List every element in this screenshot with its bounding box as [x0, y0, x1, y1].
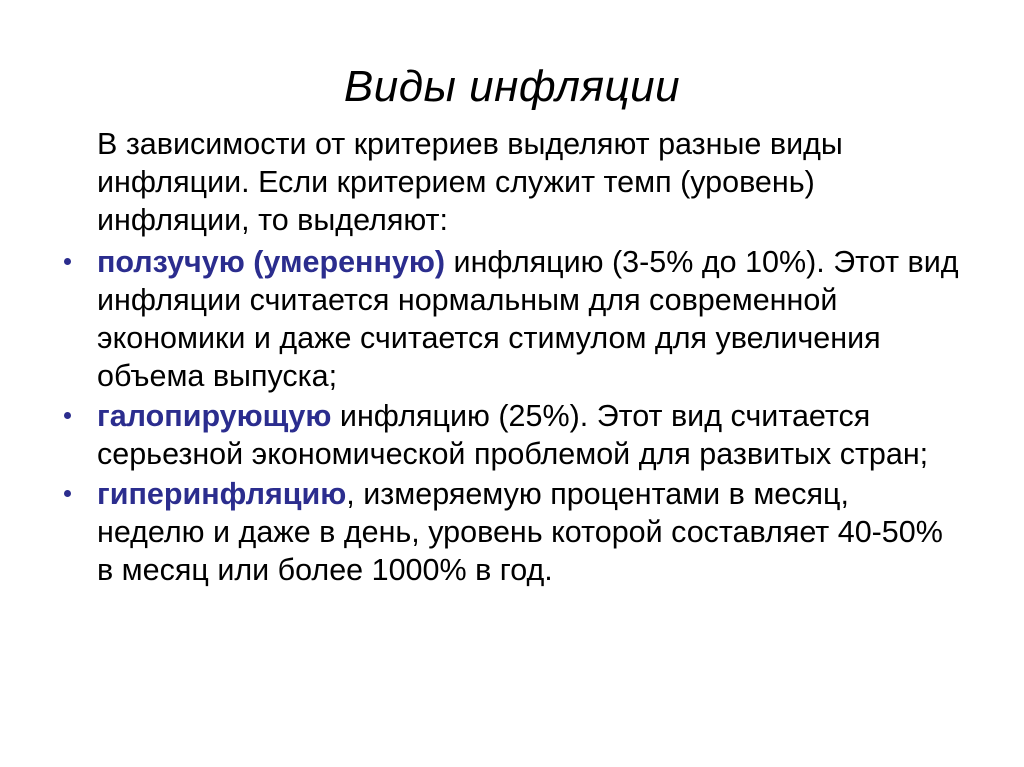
slide-canvas: Виды инфляции В зависимости от критериев…	[0, 0, 1024, 767]
slide-body: В зависимости от критериев выделяют разн…	[57, 125, 962, 591]
inflation-type-term: гиперинфляцию	[97, 477, 346, 511]
list-item: гиперинфляцию, измеряемую процентами в м…	[57, 475, 962, 589]
inflation-type-term: ползучую (умеренную)	[97, 245, 445, 279]
inflation-type-term: галопирующую	[97, 399, 331, 433]
intro-paragraph: В зависимости от критериев выделяют разн…	[97, 125, 962, 239]
list-item: галопирующую инфляцию (25%). Этот вид сч…	[57, 397, 962, 473]
bullet-dot-icon	[64, 412, 71, 419]
page-title: Виды инфляции	[0, 63, 1024, 111]
bullet-dot-icon	[64, 258, 71, 265]
list-item: ползучую (умеренную) инфляцию (3-5% до 1…	[57, 243, 962, 395]
bullet-dot-icon	[64, 490, 71, 497]
inflation-types-list: ползучую (умеренную) инфляцию (3-5% до 1…	[57, 243, 962, 589]
